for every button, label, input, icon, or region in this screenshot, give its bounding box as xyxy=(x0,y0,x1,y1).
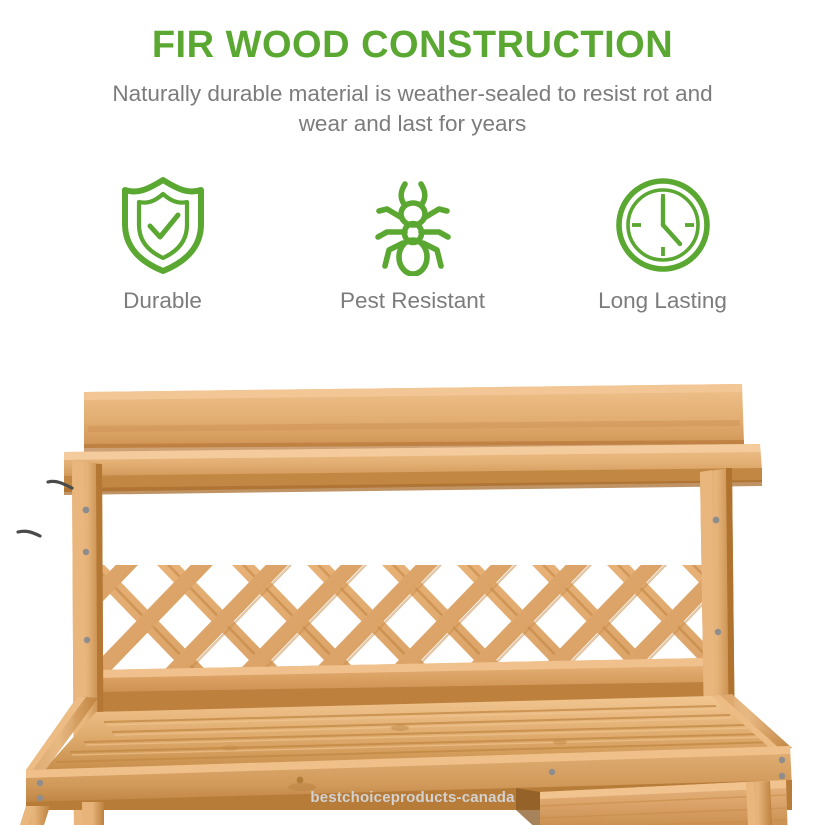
watermark: bestchoiceproducts-canada xyxy=(0,789,825,806)
feature-item-long-lasting: Long Lasting xyxy=(538,172,788,314)
feature-label: Long Lasting xyxy=(598,288,727,314)
clock-icon xyxy=(614,172,712,278)
left-front-leg xyxy=(20,806,50,825)
product-photo xyxy=(0,340,825,825)
page-subtitle: Naturally durable material is weather-se… xyxy=(93,66,733,138)
feature-label: Pest Resistant xyxy=(340,288,485,314)
feature-item-durable: Durable xyxy=(38,172,288,314)
feature-label: Durable xyxy=(123,288,202,314)
ant-icon xyxy=(367,172,459,278)
feature-item-pest-resistant: Pest Resistant xyxy=(288,172,538,314)
header: FIR WOOD CONSTRUCTION Naturally durable … xyxy=(0,0,825,138)
wooden-potting-bench-illustration xyxy=(0,340,825,825)
feature-list: Durable xyxy=(0,172,825,314)
cap-shelf-rail xyxy=(64,444,762,495)
page-title: FIR WOOD CONSTRUCTION xyxy=(0,0,825,66)
back-panel xyxy=(84,384,744,452)
product-marketing-image: FIR WOOD CONSTRUCTION Naturally durable … xyxy=(0,0,825,825)
shield-check-icon xyxy=(117,172,209,278)
